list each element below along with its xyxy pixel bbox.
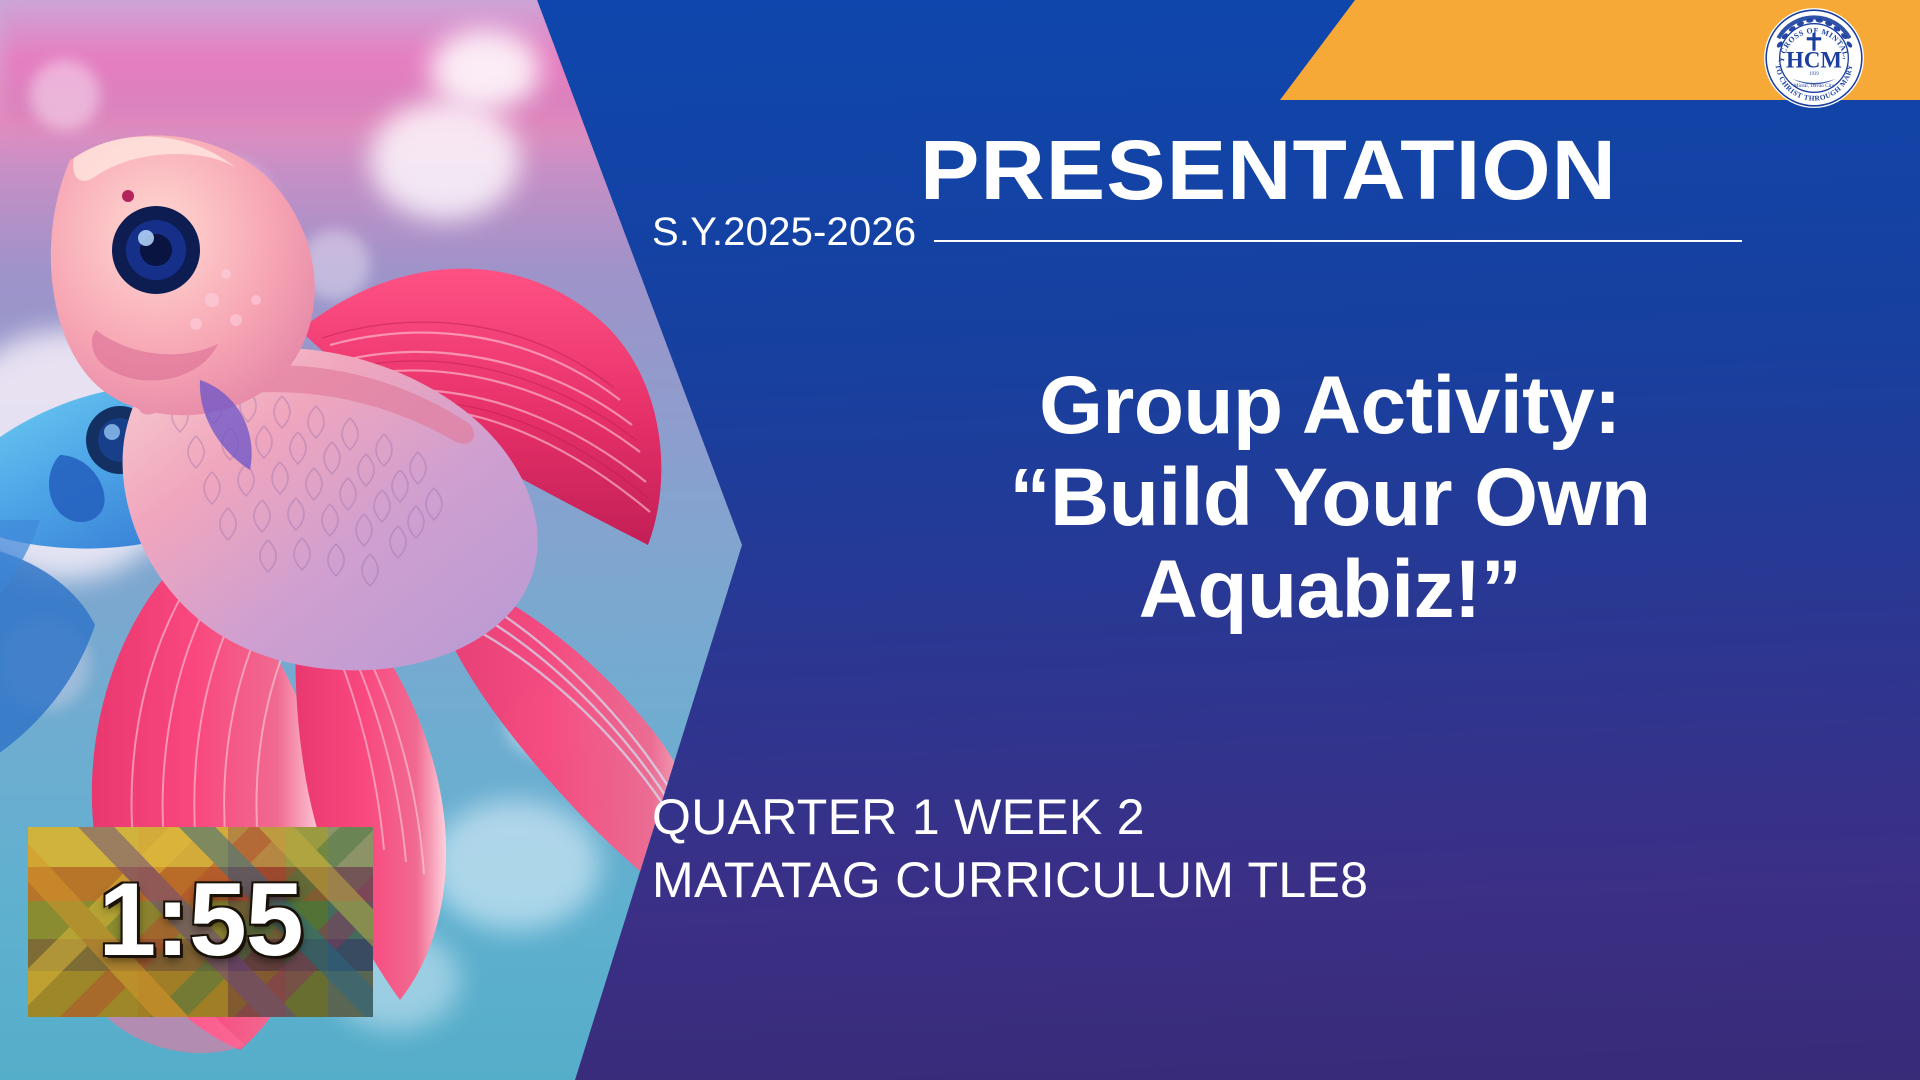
header-rule	[934, 240, 1742, 242]
presentation-kicker: PRESENTATION	[920, 128, 1617, 212]
slide-content: PRESENTATION S.Y.2025-2026 Group Activit…	[780, 0, 1920, 1080]
subtitle-line-2: MATATAG CURRICULUM TLE8	[652, 849, 1772, 912]
slide-title: Group Activity: “Build Your Own Aquabiz!…	[780, 360, 1880, 635]
timer-value: 1:55	[28, 827, 373, 1017]
school-year-row: S.Y.2025-2026	[652, 212, 1742, 254]
slide-subtitle: QUARTER 1 WEEK 2 MATATAG CURRICULUM TLE8	[652, 786, 1772, 912]
subtitle-line-1: QUARTER 1 WEEK 2	[652, 786, 1772, 849]
title-line-3: Aquabiz!”	[780, 544, 1880, 636]
presentation-slide: 1:55 HOLY CROSS OF MINTAL, INC.	[0, 0, 1920, 1080]
title-line-2: “Build Your Own	[780, 452, 1880, 544]
title-line-1: Group Activity:	[780, 360, 1880, 452]
countdown-timer-card[interactable]: 1:55	[28, 827, 373, 1017]
school-year-label: S.Y.2025-2026	[652, 212, 916, 254]
